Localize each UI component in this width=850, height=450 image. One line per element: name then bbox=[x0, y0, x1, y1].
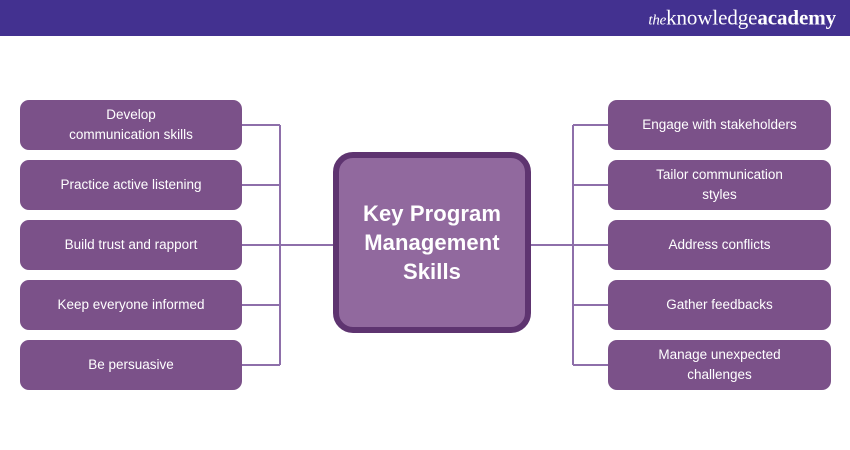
mind-map-diagram: Develop communication skills Practice ac… bbox=[0, 36, 850, 450]
node-keep-everyone-informed[interactable]: Keep everyone informed bbox=[20, 280, 242, 330]
node-develop-communication-skills[interactable]: Develop communication skills bbox=[20, 100, 242, 150]
node-label: Engage with stakeholders bbox=[642, 115, 797, 135]
node-label: Build trust and rapport bbox=[65, 235, 198, 255]
node-label: Manage unexpected challenges bbox=[658, 345, 780, 384]
center-node-label: Key Program Management Skills bbox=[363, 199, 501, 286]
node-label: Be persuasive bbox=[88, 355, 174, 375]
node-label: Keep everyone informed bbox=[57, 295, 204, 315]
node-label: Tailor communication styles bbox=[656, 165, 783, 204]
logo-text-the: the bbox=[648, 13, 666, 29]
node-build-trust-and-rapport[interactable]: Build trust and rapport bbox=[20, 220, 242, 270]
node-practice-active-listening[interactable]: Practice active listening bbox=[20, 160, 242, 210]
header-bar: theknowledgeacademy bbox=[0, 0, 850, 36]
node-label: Address conflicts bbox=[668, 235, 770, 255]
node-label: Gather feedbacks bbox=[666, 295, 773, 315]
page-root: theknowledgeacademy bbox=[0, 0, 850, 450]
node-gather-feedbacks[interactable]: Gather feedbacks bbox=[608, 280, 831, 330]
node-address-conflicts[interactable]: Address conflicts bbox=[608, 220, 831, 270]
theknowledgeacademy-logo: theknowledgeacademy bbox=[648, 8, 836, 29]
logo-text-knowledge: knowledge bbox=[666, 6, 757, 30]
node-engage-with-stakeholders[interactable]: Engage with stakeholders bbox=[608, 100, 831, 150]
logo-text-academy: academy bbox=[757, 6, 836, 30]
node-be-persuasive[interactable]: Be persuasive bbox=[20, 340, 242, 390]
center-node[interactable]: Key Program Management Skills bbox=[333, 152, 531, 333]
node-manage-unexpected-challenges[interactable]: Manage unexpected challenges bbox=[608, 340, 831, 390]
node-tailor-communication-styles[interactable]: Tailor communication styles bbox=[608, 160, 831, 210]
node-label: Develop communication skills bbox=[69, 105, 193, 144]
node-label: Practice active listening bbox=[60, 175, 201, 195]
